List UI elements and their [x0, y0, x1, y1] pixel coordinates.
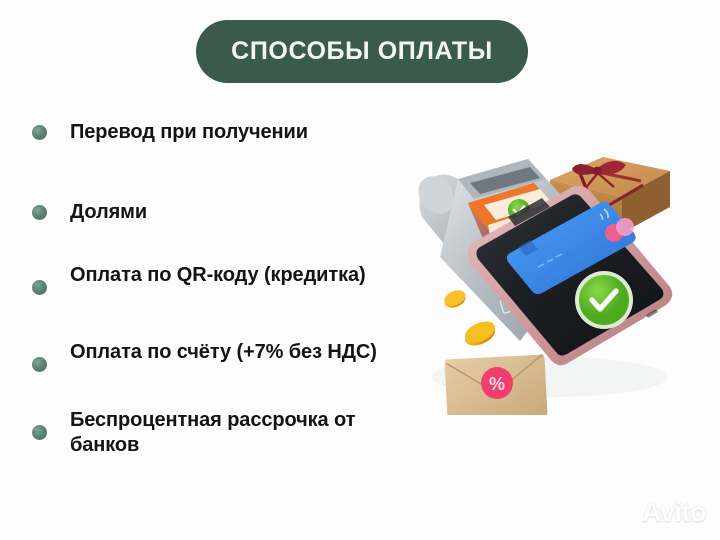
avito-watermark: Avito — [609, 498, 706, 526]
avito-logo-icon — [609, 498, 639, 526]
list-item: Оплата по QR-коду (кредитка) — [32, 263, 422, 295]
page-title: СПОСОБЫ ОПЛАТЫ — [231, 37, 493, 66]
svg-text:%: % — [489, 374, 505, 394]
gold-coin-icon — [462, 317, 499, 349]
success-check-icon — [575, 271, 633, 329]
list-item: Беспроцентная рассрочка от банков — [32, 408, 422, 458]
list-item: Перевод при получении — [32, 120, 422, 145]
payment-method-label: Оплата по счёту (+7% без НДС) — [70, 340, 390, 365]
payment-method-label: Перевод при получении — [70, 120, 308, 145]
payment-method-label: Оплата по QR-коду (кредитка) — [70, 263, 370, 288]
list-item: Долями — [32, 200, 422, 225]
payment-terminal-illustration: Print — [400, 145, 710, 415]
list-item: Оплата по счёту (+7% без НДС) — [32, 340, 422, 372]
bullet-dot-icon — [32, 205, 47, 220]
bullet-dot-icon — [32, 357, 47, 372]
payment-method-label: Долями — [70, 200, 147, 225]
page-title-pill: СПОСОБЫ ОПЛАТЫ — [196, 20, 528, 83]
bullet-dot-icon — [32, 425, 47, 440]
payment-method-label: Беспроцентная рассрочка от банков — [70, 408, 420, 458]
avito-wordmark: Avito — [642, 499, 706, 526]
bullet-dot-icon — [32, 125, 47, 140]
discount-envelope-icon: % — [444, 354, 547, 415]
gold-coin-icon — [442, 287, 468, 310]
bullet-dot-icon — [32, 280, 47, 295]
